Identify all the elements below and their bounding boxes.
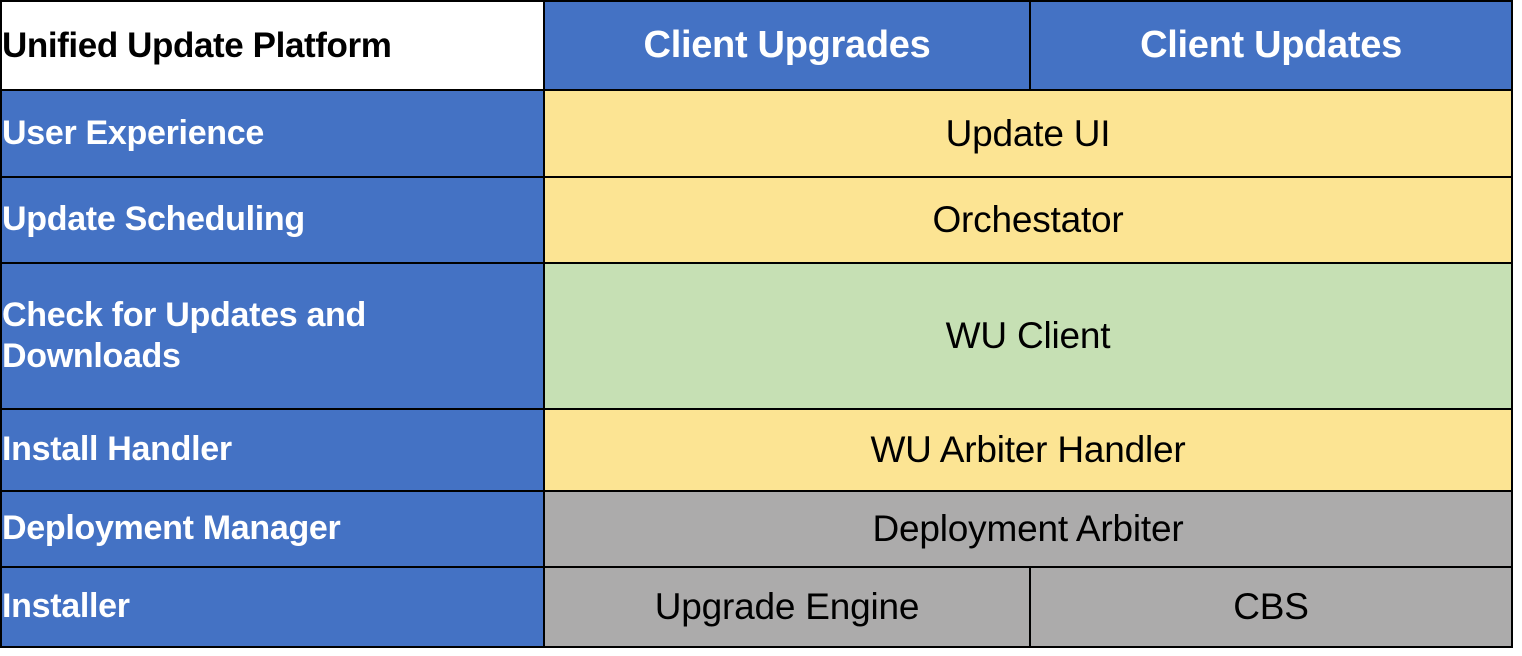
column-header-client-updates: Client Updates [1030,1,1512,90]
cell-update-ui: Update UI [544,90,1512,177]
table-row: User Experience Update UI [1,90,1512,177]
unified-update-platform-table: Unified Update Platform Client Upgrades … [0,0,1513,648]
cell-upgrade-engine: Upgrade Engine [544,567,1030,647]
cell-wu-client: WU Client [544,263,1512,409]
page-title: Unified Update Platform [1,1,544,90]
table-row: Deployment Manager Deployment Arbiter [1,491,1512,567]
table-row: Check for Updates and Downloads WU Clien… [1,263,1512,409]
table-header-row: Unified Update Platform Client Upgrades … [1,1,1512,90]
row-label-update-scheduling: Update Scheduling [1,177,544,263]
cell-cbs: CBS [1030,567,1512,647]
row-label-installer: Installer [1,567,544,647]
cell-wu-arbiter-handler: WU Arbiter Handler [544,409,1512,491]
row-label-user-experience: User Experience [1,90,544,177]
table-row: Update Scheduling Orchestator [1,177,1512,263]
uup-architecture-table: Unified Update Platform Client Upgrades … [0,0,1522,656]
table-row: Install Handler WU Arbiter Handler [1,409,1512,491]
table-row: Installer Upgrade Engine CBS [1,567,1512,647]
row-label-install-handler: Install Handler [1,409,544,491]
cell-orchestator: Orchestator [544,177,1512,263]
column-header-client-upgrades: Client Upgrades [544,1,1030,90]
row-label-deployment-manager: Deployment Manager [1,491,544,567]
cell-deployment-arbiter: Deployment Arbiter [544,491,1512,567]
row-label-check-for-updates-and-downloads: Check for Updates and Downloads [1,263,544,409]
